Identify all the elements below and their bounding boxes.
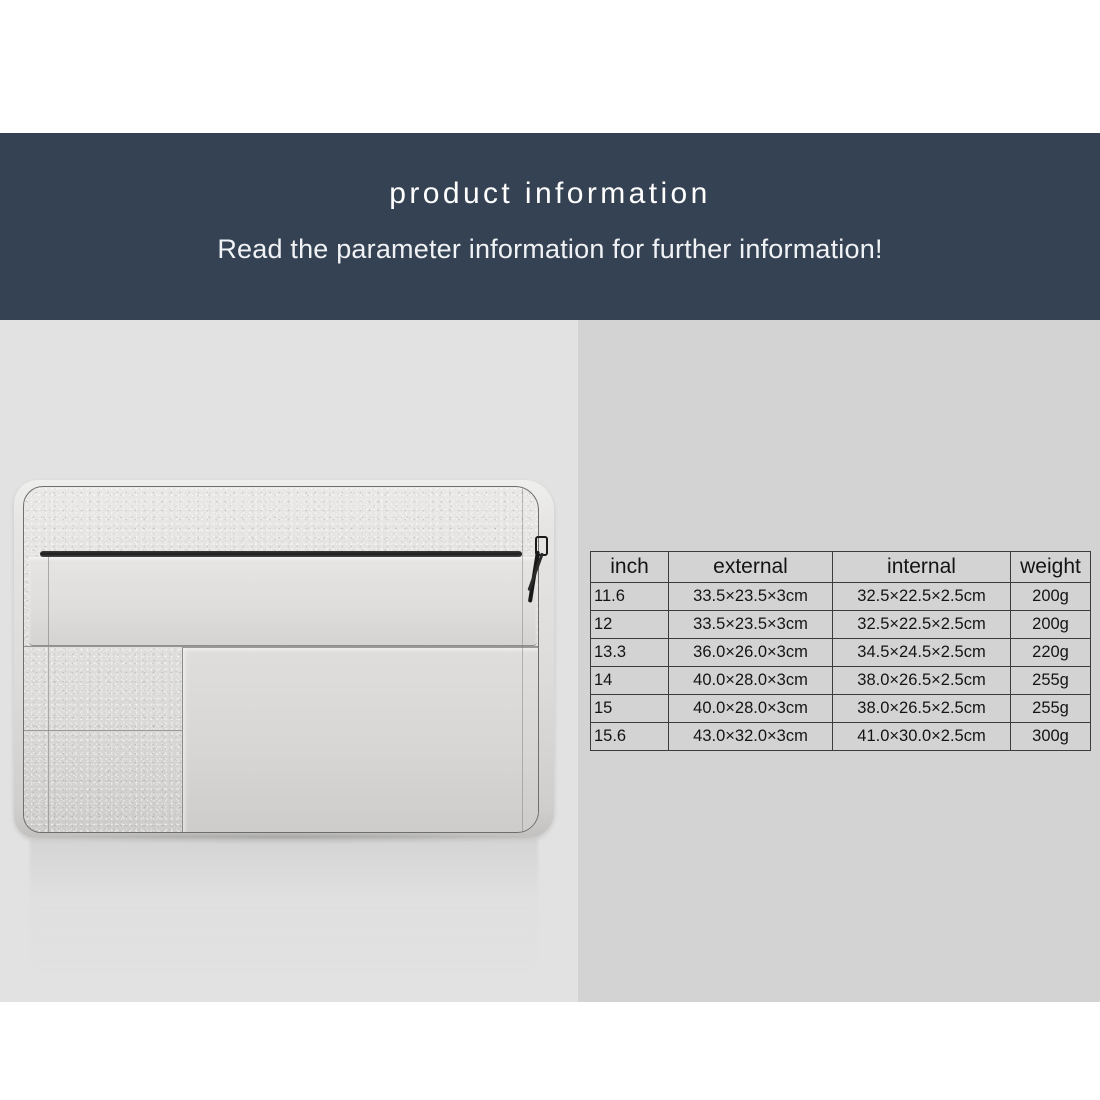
bag-reflection <box>30 838 538 978</box>
cell-weight: 255g <box>1011 695 1091 723</box>
cell-inch: 15.6 <box>591 723 669 751</box>
cell-internal: 32.5×22.5×2.5cm <box>833 583 1011 611</box>
cell-external: 33.5×23.5×3cm <box>669 583 833 611</box>
zipper-pull-icon <box>533 536 549 610</box>
cell-inch: 13.3 <box>591 639 669 667</box>
left-sub-pocket-divider <box>24 730 183 731</box>
top-pocket-seam <box>48 557 49 645</box>
cell-weight: 300g <box>1011 723 1091 751</box>
cell-internal: 41.0×30.0×2.5cm <box>833 723 1011 751</box>
front-pocket-panel <box>182 647 539 833</box>
cell-inch: 14 <box>591 667 669 695</box>
table-header-row: inch external internal weight <box>591 552 1091 583</box>
table-row: 11.6 33.5×23.5×3cm 32.5×22.5×2.5cm 200g <box>591 583 1091 611</box>
cell-external: 33.5×23.5×3cm <box>669 611 833 639</box>
cell-external: 36.0×26.0×3cm <box>669 639 833 667</box>
right-side-seam <box>522 487 523 833</box>
table-row: 13.3 36.0×26.0×3cm 34.5×24.5×2.5cm 220g <box>591 639 1091 667</box>
cell-inch: 11.6 <box>591 583 669 611</box>
laptop-sleeve-illustration <box>14 480 554 838</box>
left-sub-pocket-seam <box>48 647 49 833</box>
cell-external: 40.0×28.0×3cm <box>669 667 833 695</box>
page-subtitle: Read the parameter information for furth… <box>0 233 1100 265</box>
top-document-pocket <box>29 557 537 646</box>
table-row: 15 40.0×28.0×3cm 38.0×26.5×2.5cm 255g <box>591 695 1091 723</box>
bag-front-face <box>23 486 539 833</box>
cell-weight: 200g <box>1011 611 1091 639</box>
cell-external: 43.0×32.0×3cm <box>669 723 833 751</box>
column-header-weight: weight <box>1011 552 1091 583</box>
cell-external: 40.0×28.0×3cm <box>669 695 833 723</box>
page-title: product information <box>0 177 1100 211</box>
header-banner: product information Read the parameter i… <box>0 133 1100 320</box>
table-row: 15.6 43.0×32.0×3cm 41.0×30.0×2.5cm 300g <box>591 723 1091 751</box>
gray-laptop-sleeve-bag-image <box>0 320 578 1002</box>
cell-weight: 220g <box>1011 639 1091 667</box>
cell-internal: 34.5×24.5×2.5cm <box>833 639 1011 667</box>
column-header-external: external <box>669 552 833 583</box>
cell-internal: 38.0×26.5×2.5cm <box>833 695 1011 723</box>
spec-table-container: inch external internal weight 11.6 33.5×… <box>590 551 1090 751</box>
size-specification-table: inch external internal weight 11.6 33.5×… <box>590 551 1091 751</box>
cell-internal: 38.0×26.5×2.5cm <box>833 667 1011 695</box>
cell-inch: 12 <box>591 611 669 639</box>
table-row: 12 33.5×23.5×3cm 32.5×22.5×2.5cm 200g <box>591 611 1091 639</box>
product-information-page: product information Read the parameter i… <box>0 0 1100 1100</box>
cell-internal: 32.5×22.5×2.5cm <box>833 611 1011 639</box>
cell-weight: 255g <box>1011 667 1091 695</box>
table-row: 14 40.0×28.0×3cm 38.0×26.5×2.5cm 255g <box>591 667 1091 695</box>
cell-weight: 200g <box>1011 583 1091 611</box>
column-header-internal: internal <box>833 552 1011 583</box>
cell-inch: 15 <box>591 695 669 723</box>
column-header-inch: inch <box>591 552 669 583</box>
product-image-panel <box>0 320 578 1002</box>
